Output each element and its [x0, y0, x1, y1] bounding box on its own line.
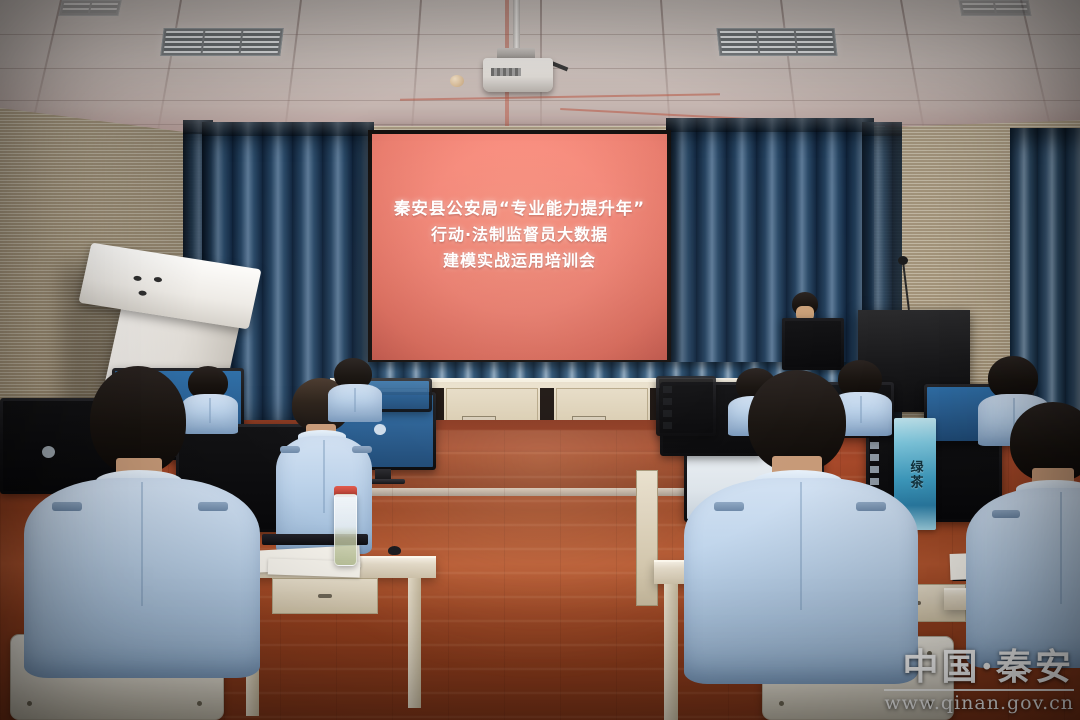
screen-title-line-2: 行动·法制监督员大数据: [372, 222, 667, 248]
attendee-epaulet: [198, 502, 228, 511]
watermark-url: www.qinan.gov.cn: [884, 692, 1074, 714]
mouse[interactable]: [388, 546, 401, 555]
projection-screen-text: 秦安县公安局“专业能力提升年” 行动·法制监督员大数据 建模实战运用培训会: [372, 196, 667, 274]
watermark-site-name: 中国·秦安: [884, 647, 1074, 687]
smoke-detector: [450, 75, 464, 87]
ceiling-light-panel: [160, 28, 283, 56]
photo-scene: 秦安县公安局“专业能力提升年” 行动·法制监督员大数据 建模实战运用培训会: [0, 0, 1080, 720]
attendee-shirt: [328, 384, 382, 422]
ceiling-light-panel: [58, 0, 121, 16]
screen-title-line-3: 建模实战运用培训会: [372, 248, 667, 274]
desk-drawer: [272, 578, 378, 614]
attendee-epaulet: [992, 510, 1020, 518]
attendee-epaulet: [714, 502, 744, 511]
attendee-shirt: [182, 394, 238, 434]
attendee-epaulet: [280, 446, 300, 453]
monitor-screen-off: [656, 376, 716, 436]
attendee-shirt: [966, 488, 1080, 668]
attendee-epaulet: [52, 502, 82, 511]
ceiling-light-panel: [959, 0, 1032, 16]
watermark: 中国·秦安 www.qinan.gov.cn: [884, 647, 1074, 714]
projection-screen: 秦安县公安局“专业能力提升年” 行动·法制监督员大数据 建模实战运用培训会: [372, 134, 667, 360]
desk-leg: [664, 584, 678, 720]
desk-leg: [408, 578, 421, 708]
screen-title-line-1: 秦安县公安局“专业能力提升年”: [372, 196, 667, 222]
attendee-epaulet: [856, 502, 886, 511]
tea-package-text: 绿茶: [906, 460, 925, 490]
ceiling-light-panel: [717, 28, 838, 56]
microphone-icon: [898, 256, 908, 265]
watermark-divider: [884, 689, 1074, 691]
projector-mount-rod: [513, 0, 520, 52]
desk-divider: [636, 470, 658, 606]
monitor-screen-off: [782, 318, 844, 370]
water-bottle: [334, 494, 357, 566]
attendee-epaulet: [352, 446, 372, 453]
ceiling-projector: [483, 58, 553, 92]
